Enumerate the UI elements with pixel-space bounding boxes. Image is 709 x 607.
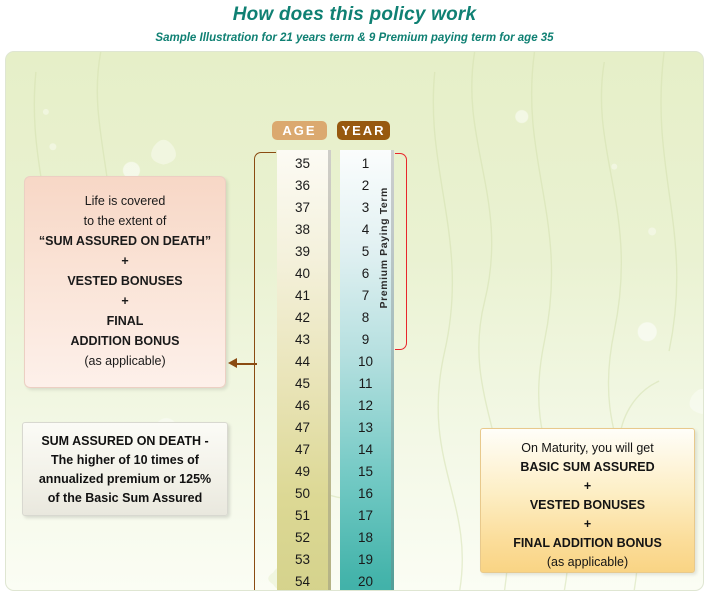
age-cell: 40 bbox=[277, 263, 328, 285]
age-cell: 45 bbox=[277, 373, 328, 395]
age-cell: 47 bbox=[277, 439, 328, 461]
year-cell: 14 bbox=[340, 439, 391, 461]
age-cell: 50 bbox=[277, 483, 328, 505]
maturity-benefit-line: (as applicable) bbox=[481, 553, 694, 572]
sum-assured-definition-line: of the Basic Sum Assured bbox=[23, 489, 227, 508]
death-benefit-line: (as applicable) bbox=[25, 351, 225, 371]
maturity-benefit-line: VESTED BONUSES bbox=[481, 496, 694, 515]
sum-assured-definition-box: SUM ASSURED ON DEATH -The higher of 10 t… bbox=[22, 422, 228, 516]
year-cell: 19 bbox=[340, 549, 391, 571]
age-cell: 51 bbox=[277, 505, 328, 527]
age-cell: 47 bbox=[277, 417, 328, 439]
year-cell: 17 bbox=[340, 505, 391, 527]
death-benefit-line: + bbox=[25, 291, 225, 311]
death-benefit-line: Life is covered bbox=[25, 191, 225, 211]
year-cell: 10 bbox=[340, 351, 391, 373]
page-title: How does this policy work bbox=[0, 4, 709, 26]
premium-paying-term-label: Premium Paying Term bbox=[378, 187, 390, 309]
death-benefit-line: FINAL bbox=[25, 311, 225, 331]
age-cell: 36 bbox=[277, 175, 328, 197]
year-cell: 1 bbox=[340, 153, 391, 175]
death-benefit-line: to the extent of bbox=[25, 211, 225, 231]
death-benefit-arrow-head bbox=[228, 358, 237, 368]
age-cell: 52 bbox=[277, 527, 328, 549]
age-cell: 49 bbox=[277, 461, 328, 483]
year-cell: 11 bbox=[340, 373, 391, 395]
year-cell: 12 bbox=[340, 395, 391, 417]
page-header: How does this policy work Sample Illustr… bbox=[0, 0, 709, 44]
premium-paying-term-bracket bbox=[395, 153, 407, 350]
age-cell: 41 bbox=[277, 285, 328, 307]
age-cell: 38 bbox=[277, 219, 328, 241]
age-cell: 53 bbox=[277, 549, 328, 571]
maturity-benefit-line: + bbox=[481, 477, 694, 496]
age-cell: 35 bbox=[277, 153, 328, 175]
age-cell: 42 bbox=[277, 307, 328, 329]
age-cell: 54 bbox=[277, 571, 328, 591]
maturity-benefit-line: BASIC SUM ASSURED bbox=[481, 458, 694, 477]
age-cell: 39 bbox=[277, 241, 328, 263]
death-benefit-line: ADDITION BONUS bbox=[25, 331, 225, 351]
maturity-benefit-line: FINAL ADDITION BONUS bbox=[481, 534, 694, 553]
year-cell: 20 bbox=[340, 571, 391, 591]
year-cell: 13 bbox=[340, 417, 391, 439]
age-cell: 46 bbox=[277, 395, 328, 417]
year-cell: 18 bbox=[340, 527, 391, 549]
age-column: 3536373839404142434445464747495051525354… bbox=[277, 150, 331, 591]
death-benefit-box: Life is coveredto the extent of“SUM ASSU… bbox=[24, 176, 226, 388]
maturity-benefit-line: + bbox=[481, 515, 694, 534]
sum-assured-definition-line: annualized premium or 125% bbox=[23, 470, 227, 489]
maturity-benefit-line: On Maturity, you will get bbox=[481, 439, 694, 458]
death-benefit-line: VESTED BONUSES bbox=[25, 271, 225, 291]
maturity-benefit-box: On Maturity, you will getBASIC SUM ASSUR… bbox=[480, 428, 695, 573]
death-benefit-line: + bbox=[25, 251, 225, 271]
sum-assured-definition-line: The higher of 10 times of bbox=[23, 451, 227, 470]
page-subtitle: Sample Illustration for 21 years term & … bbox=[0, 32, 709, 44]
year-cell: 9 bbox=[340, 329, 391, 351]
year-cell: 15 bbox=[340, 461, 391, 483]
age-column-header: AGE bbox=[272, 121, 327, 140]
year-cell: 16 bbox=[340, 483, 391, 505]
year-cell: 8 bbox=[340, 307, 391, 329]
age-cell: 43 bbox=[277, 329, 328, 351]
year-column-header: YEAR bbox=[337, 121, 390, 140]
age-cell: 37 bbox=[277, 197, 328, 219]
policy-term-bracket bbox=[254, 152, 276, 591]
death-benefit-line: “SUM ASSURED ON DEATH” bbox=[25, 231, 225, 251]
death-benefit-arrow-line bbox=[235, 363, 257, 365]
sum-assured-definition-line: SUM ASSURED ON DEATH - bbox=[23, 432, 227, 451]
age-cell: 44 bbox=[277, 351, 328, 373]
